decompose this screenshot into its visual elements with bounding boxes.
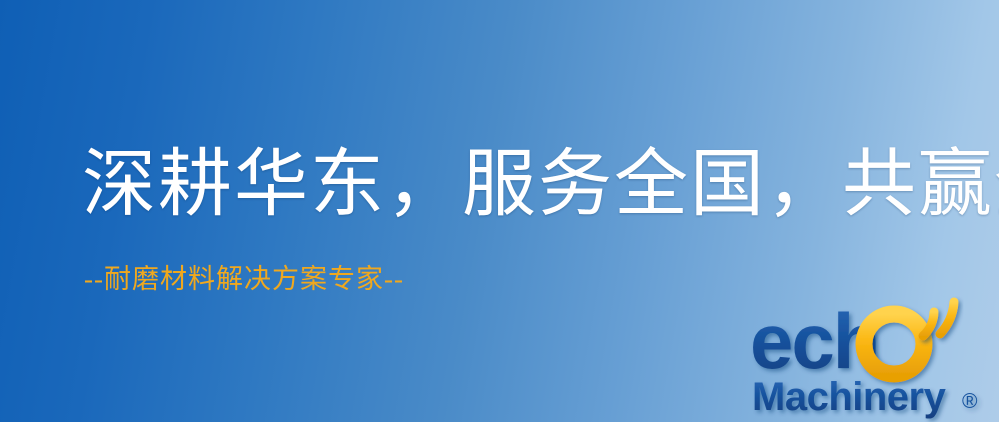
promo-banner: 深耕华东，服务全国，共赢全球 --耐磨材料解决方案专家-- — [0, 0, 999, 422]
echo-machinery-logo: ech Machinery ® — [748, 296, 999, 422]
banner-headline: 深耕华东，服务全国，共赢全球 — [82, 148, 999, 222]
logo-registered-mark: ® — [962, 390, 978, 413]
banner-subtitle: --耐磨材料解决方案专家-- — [84, 266, 404, 293]
logo-tagline: Machinery — [752, 375, 947, 419]
logo-signal-arcs-icon — [923, 302, 954, 336]
